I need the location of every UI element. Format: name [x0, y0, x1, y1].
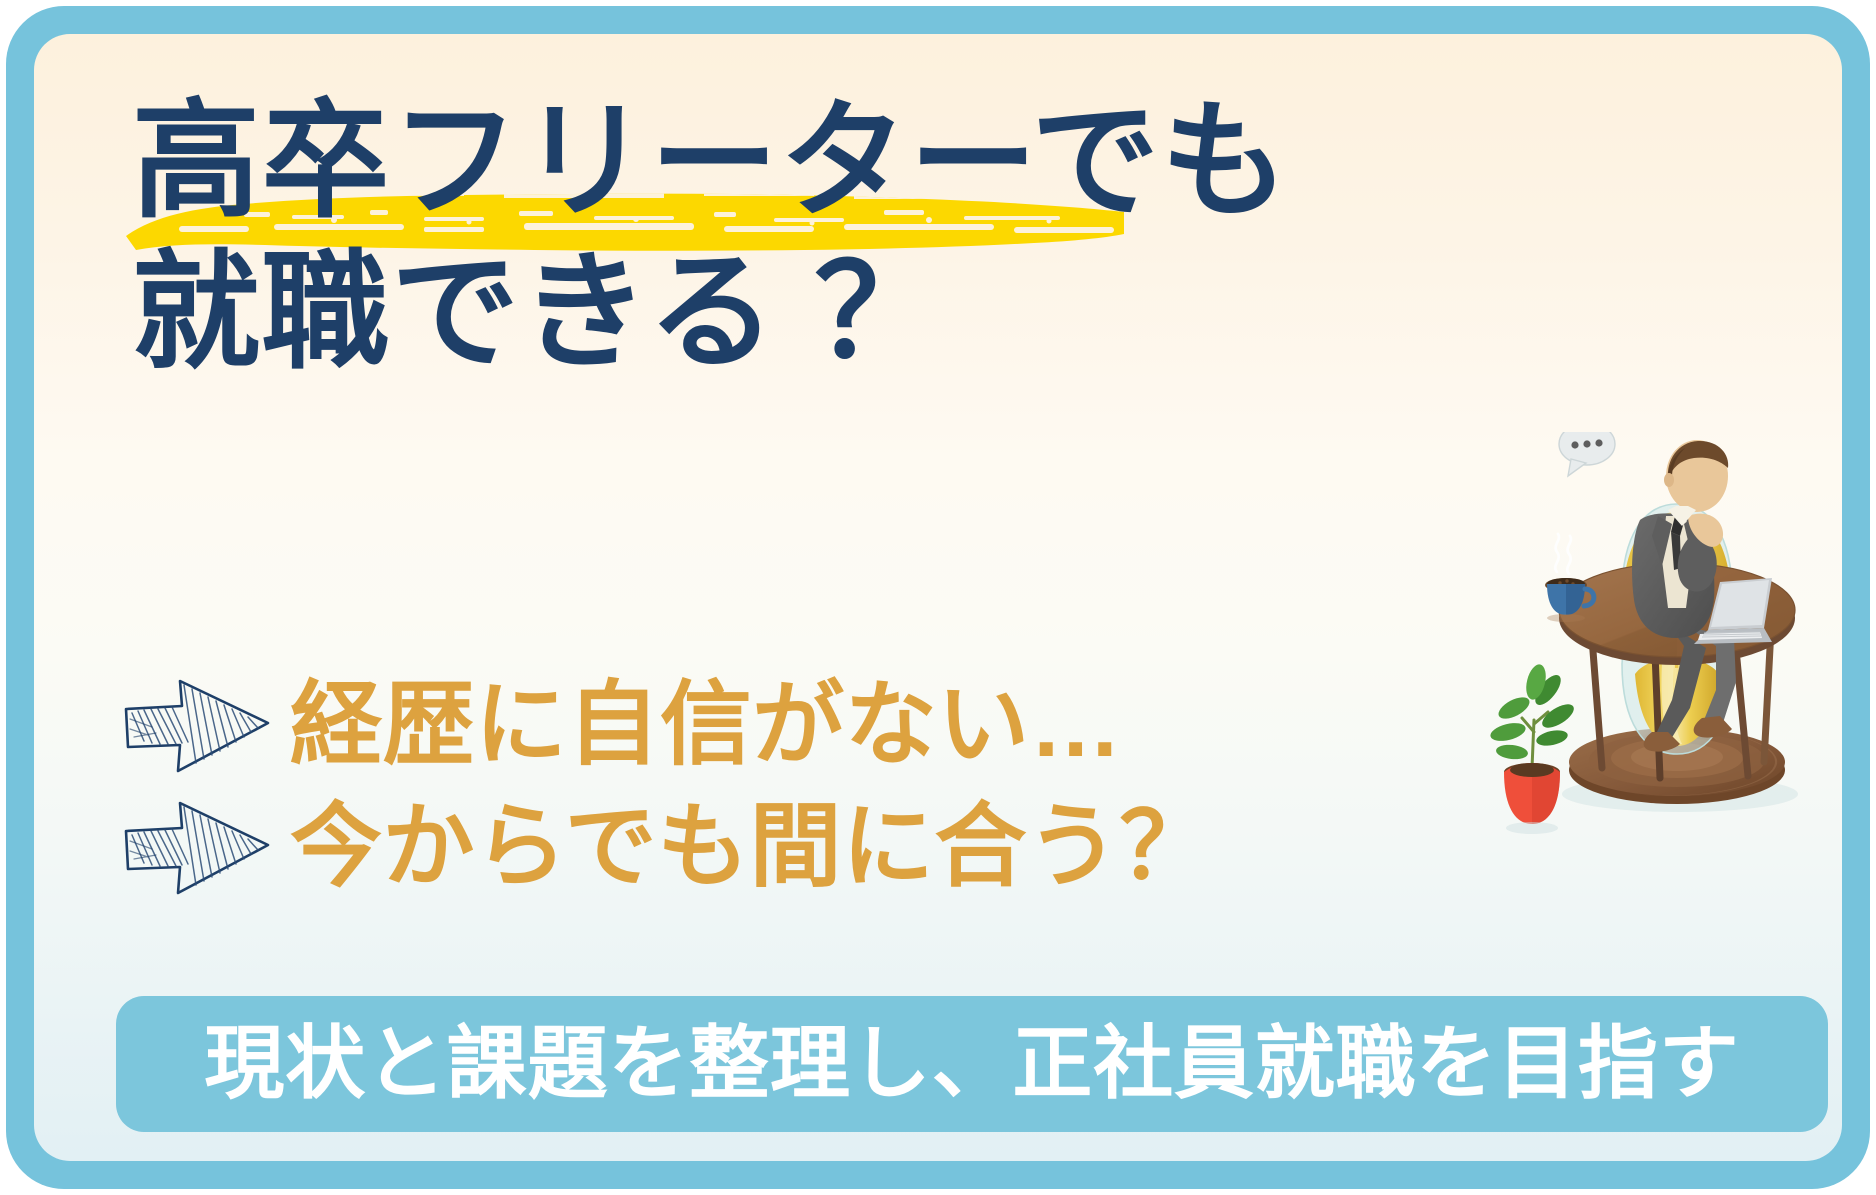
list-item-label: 今からでも間に合う？: [290, 801, 1212, 893]
list-item-label: 経歴に自信がない…: [290, 679, 1122, 771]
page-title: 高卒フリーターでも 就職できる ？: [132, 86, 1462, 388]
sketch-arrow-right-icon: [122, 675, 274, 775]
status-banner: 現状と課題を整理し、正社員就職を目指す: [116, 996, 1828, 1132]
businessman-on-hourglass-table-illustration: [1472, 432, 1842, 852]
poster-inner-canvas: 高卒フリーターでも 就職できる ？: [34, 34, 1842, 1161]
potted-plant: [1489, 662, 1578, 834]
list-item: 今からでも間に合う？: [122, 786, 1302, 908]
title-line-2-text: 就職できる ？: [132, 241, 944, 384]
title-line-1: 高卒フリーターでも: [132, 86, 1462, 237]
title-line-2: 就職できる ？: [132, 237, 1462, 388]
title-line-1-text: 高卒フリーターでも: [132, 90, 1290, 233]
bullet-list: 経歴に自信がない…: [122, 664, 1302, 908]
thought-bubble-icon: [1559, 432, 1615, 476]
poster-root: 高卒フリーターでも 就職できる ？: [0, 0, 1876, 1195]
sketch-arrow-right-icon: [122, 797, 274, 897]
status-banner-label: 現状と課題を整理し、正社員就職を目指す: [204, 1024, 1739, 1104]
list-item: 経歴に自信がない…: [122, 664, 1302, 786]
